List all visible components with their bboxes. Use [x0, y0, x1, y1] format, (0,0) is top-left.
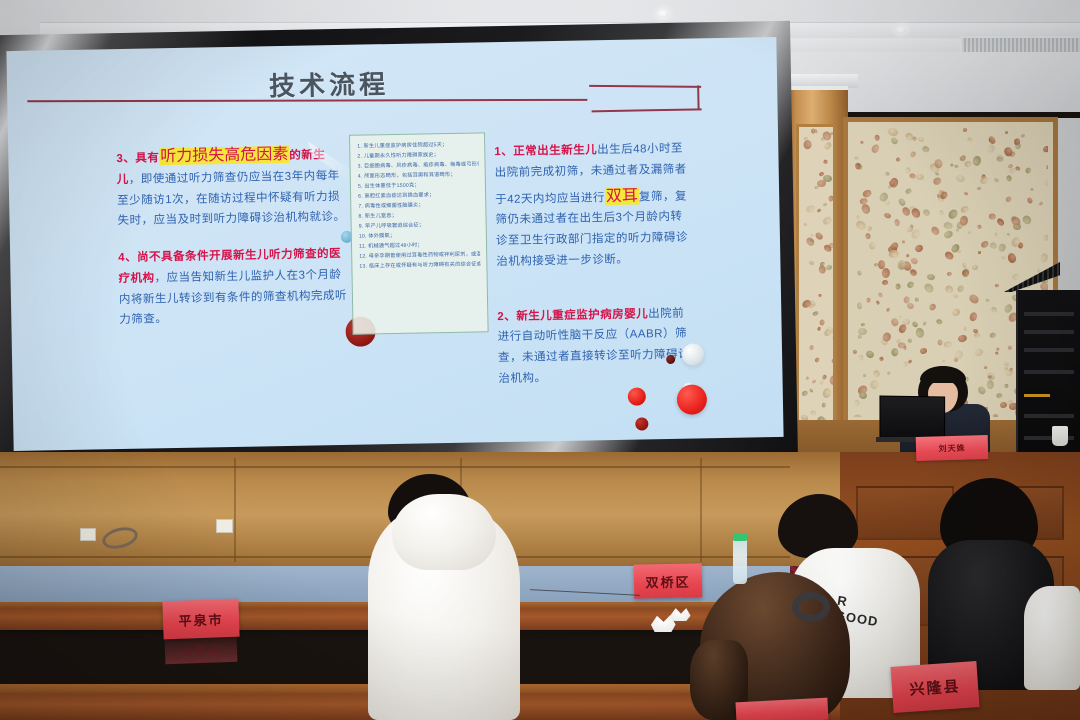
- floral-motif: [1005, 175, 1011, 182]
- floral-motif: [1030, 187, 1034, 191]
- floral-motif: [989, 214, 996, 220]
- floral-motif: [1050, 145, 1053, 157]
- floral-motif: [944, 341, 953, 349]
- floral-motif: [885, 171, 891, 177]
- paragraph-3-highlight: 听力损失高危因素: [159, 146, 289, 165]
- floral-motif: [1038, 201, 1043, 206]
- floral-motif: [805, 203, 816, 213]
- floral-motif: [983, 366, 987, 370]
- floral-motif: [865, 349, 876, 359]
- floral-motif: [895, 283, 901, 290]
- placard-shuangqiao: 双桥区: [634, 563, 703, 598]
- floral-motif: [922, 208, 931, 217]
- floral-motif: [1043, 179, 1052, 188]
- slide-paragraph-2: 2、新生儿重症监护病房婴儿出院前进行自动听性脑干反应（AABR）筛查，未通过者直…: [497, 303, 690, 390]
- floral-motif: [1006, 233, 1009, 236]
- column-floral-inset: [796, 124, 836, 424]
- floral-motif: [976, 224, 981, 229]
- floral-motif: [882, 268, 891, 279]
- floral-motif: [887, 126, 899, 137]
- floral-motif: [866, 297, 871, 303]
- floral-motif: [963, 128, 968, 132]
- floral-motif: [952, 294, 958, 299]
- floral-motif: [917, 136, 925, 143]
- floral-motif: [907, 302, 916, 310]
- floral-motif: [897, 197, 906, 207]
- floral-motif: [968, 311, 978, 322]
- floral-motif: [910, 256, 919, 264]
- floral-motif: [859, 354, 864, 360]
- floral-motif: [874, 134, 880, 141]
- equipment-rack: [1016, 290, 1080, 470]
- floral-motif: [1021, 134, 1026, 139]
- floral-motif: [973, 155, 982, 166]
- floral-motif: [861, 188, 872, 198]
- floral-motif: [1027, 197, 1034, 204]
- floral-motif: [993, 177, 999, 183]
- floral-motif: [973, 332, 980, 338]
- floral-motif: [922, 282, 935, 295]
- floral-motif: [943, 229, 954, 240]
- floral-motif: [878, 260, 885, 269]
- floral-motif: [1021, 214, 1033, 226]
- floral-motif: [916, 298, 920, 302]
- floral-motif: [828, 374, 836, 386]
- floral-motif: [801, 390, 808, 397]
- floral-motif: [887, 371, 892, 375]
- floral-motif: [974, 347, 984, 357]
- panel-seam: [700, 458, 702, 562]
- floral-motif: [905, 253, 909, 257]
- floral-motif: [819, 319, 825, 326]
- floral-motif: [960, 204, 970, 213]
- floral-motif: [996, 392, 1003, 398]
- floral-motif: [806, 376, 810, 380]
- floral-motif: [899, 315, 903, 318]
- floral-motif: [987, 143, 996, 153]
- floral-motif: [804, 222, 807, 226]
- floral-motif: [1043, 234, 1050, 241]
- floral-motif: [828, 195, 835, 202]
- floral-motif: [825, 264, 832, 270]
- floral-motif: [822, 374, 828, 381]
- floral-motif: [941, 360, 945, 363]
- floral-motif: [906, 280, 915, 289]
- floral-motif: [906, 167, 911, 173]
- laptop[interactable]: [879, 396, 945, 439]
- floral-motif: [817, 208, 822, 213]
- floral-motif: [919, 348, 927, 355]
- floral-motif: [926, 273, 934, 280]
- floral-motif: [930, 225, 941, 237]
- floral-motif: [911, 320, 919, 328]
- red-circle-small-decor: [635, 417, 648, 430]
- floral-motif: [944, 285, 954, 295]
- placard-partial-front: [735, 698, 828, 720]
- floral-motif: [817, 326, 822, 331]
- paragraph-2-number: 2、: [497, 310, 516, 322]
- paragraph-3-head-a: 具有: [135, 152, 159, 164]
- floral-motif: [989, 332, 996, 338]
- projection-screen[interactable]: 技术流程 3、具有听力损失高危因素的新生儿，即使通过听力筛查仍应当在3年内每年至…: [6, 37, 783, 451]
- floral-motif: [910, 173, 916, 178]
- floral-motif: [950, 163, 954, 167]
- power-outlet-icon: [216, 519, 233, 533]
- floral-motif: [832, 318, 836, 328]
- floral-motif: [860, 322, 865, 326]
- floral-motif: [882, 280, 889, 286]
- floral-motif: [1024, 166, 1032, 174]
- risk-factor-list-box: 1. 新生儿重症监护病房住院超过5天；2. 儿童期永久性听力障碍家族史；3. 巨…: [349, 132, 489, 334]
- floral-motif: [980, 239, 990, 248]
- floral-motif: [977, 187, 981, 191]
- floral-motif: [905, 188, 912, 194]
- floral-motif: [908, 359, 913, 364]
- floral-motif: [857, 270, 863, 276]
- floral-motif: [855, 157, 859, 161]
- floral-motif: [822, 202, 827, 207]
- floral-motif: [963, 326, 967, 331]
- floral-motif: [873, 369, 881, 378]
- floral-motif: [1011, 273, 1020, 281]
- floral-motif: [860, 203, 871, 215]
- floral-motif: [943, 222, 953, 231]
- floral-motif: [810, 409, 818, 416]
- floral-motif: [858, 334, 862, 339]
- floral-motif: [990, 306, 998, 314]
- floral-motif: [936, 318, 944, 325]
- floral-motif: [967, 136, 973, 142]
- floral-motif: [1048, 186, 1053, 192]
- floral-motif: [921, 145, 930, 154]
- floral-motif: [879, 356, 884, 361]
- floral-motif: [878, 292, 884, 298]
- floral-motif: [937, 340, 943, 347]
- floral-motif: [1008, 345, 1013, 351]
- placard-pingquan-reflection: 平泉市: [165, 636, 238, 664]
- floral-motif: [1007, 252, 1017, 264]
- floral-motif: [865, 233, 871, 240]
- floral-motif: [828, 242, 836, 249]
- floral-motif: [821, 402, 826, 408]
- floral-motif: [811, 379, 816, 384]
- floral-motif: [821, 215, 832, 226]
- paragraph-3-body: ，即使通过听力筛查仍应当在3年内每年至少随访1次，在随访过程中怀疑有听力损失时，…: [117, 170, 346, 228]
- floral-motif: [832, 395, 836, 402]
- floral-motif: [808, 260, 814, 266]
- floral-motif: [814, 357, 820, 363]
- floral-motif: [964, 191, 969, 196]
- floral-motif: [822, 160, 828, 165]
- panel-line: [0, 466, 790, 468]
- slide-paragraph-4: 4、尚不具备条件开展新生儿听力筛查的医疗机构，应当告知新生儿监护人在3个月龄内将…: [118, 244, 349, 331]
- floral-motif: [992, 413, 998, 418]
- slide-paragraph-1: 1、正常出生新生儿出生后48小时至出院前完成初筛，未通过者及漏筛者于42天内均应…: [494, 139, 688, 273]
- floral-motif: [903, 362, 907, 367]
- paragraph-1-number: 1、: [494, 146, 513, 158]
- paragraph-2-head: 新生儿重症监护病房婴儿: [516, 308, 648, 322]
- floral-motif: [854, 399, 860, 406]
- floral-motif: [959, 156, 963, 161]
- title-accent-line: [589, 85, 701, 88]
- floral-motif: [916, 174, 924, 180]
- floral-motif: [810, 234, 813, 238]
- floral-motif: [955, 165, 959, 168]
- title-accent-vertical: [697, 85, 699, 109]
- floral-motif: [1004, 131, 1007, 134]
- gray-sphere-large-decor: [682, 343, 704, 365]
- floral-motif: [805, 236, 816, 247]
- floral-motif: [1037, 269, 1041, 273]
- floral-motif: [1005, 383, 1009, 387]
- floral-motif: [915, 327, 924, 338]
- floral-motif: [823, 141, 833, 151]
- floral-motif: [977, 386, 987, 396]
- conference-room-scene: 技术流程 3、具有听力损失高危因素的新生儿，即使通过听力筛查仍应当在3年内每年至…: [0, 0, 1080, 720]
- floral-motif: [895, 157, 901, 163]
- floral-motif: [908, 338, 913, 343]
- floral-motif: [859, 140, 863, 144]
- floral-motif: [869, 242, 875, 249]
- floral-motif: [955, 173, 966, 183]
- floral-motif: [995, 217, 1005, 227]
- downlight-icon: [658, 10, 668, 17]
- floral-motif: [870, 380, 879, 391]
- floral-motif: [989, 242, 998, 250]
- person-hood: [392, 494, 496, 570]
- floral-motif: [909, 268, 918, 277]
- floral-motif: [953, 357, 959, 362]
- floral-motif: [947, 272, 952, 276]
- floral-motif: [876, 301, 880, 306]
- floral-motif: [914, 244, 924, 254]
- floral-motif: [1048, 165, 1053, 171]
- risk-factor-item: 13. 临床上存在或怀疑有与听力障碍有关的综合征或遗传病。: [359, 260, 480, 272]
- paragraph-1-head: 正常出生新生儿: [513, 144, 597, 158]
- floral-motif: [832, 357, 836, 363]
- placard-speaker-name: 刘天姝: [916, 435, 989, 461]
- paragraph-4-number: 4、: [118, 252, 137, 264]
- floral-motif: [910, 207, 922, 220]
- floral-motif: [856, 302, 862, 309]
- floral-motif: [819, 380, 824, 385]
- floral-motif: [817, 293, 821, 297]
- floral-motif: [902, 240, 905, 243]
- floral-motif: [874, 262, 879, 266]
- floral-motif: [951, 308, 961, 318]
- title-accent-line-2: [592, 108, 702, 112]
- floral-motif: [1040, 253, 1049, 263]
- placard-xinglong: 兴隆县: [891, 661, 980, 713]
- floral-motif: [804, 141, 812, 151]
- panel-seam: [234, 458, 236, 562]
- floral-motif: [923, 321, 927, 326]
- floral-motif: [932, 176, 943, 186]
- floral-motif: [928, 302, 937, 311]
- floral-motif: [809, 345, 814, 350]
- floral-motif: [995, 284, 999, 287]
- floral-motif: [886, 307, 891, 312]
- floral-motif: [957, 334, 968, 344]
- water-bottle: [733, 538, 747, 584]
- red-circle-large-decor: [677, 384, 708, 415]
- floral-motif: [894, 219, 901, 227]
- floral-motif: [939, 210, 944, 216]
- person-shoulder-light: [1024, 586, 1080, 690]
- paragraph-3-number: 3、: [116, 153, 135, 165]
- slide-right-column: 1、正常出生新生儿出生后48小时至出院前完成初筛，未通过者及漏筛者于42天内均应…: [494, 139, 691, 406]
- floral-motif: [863, 374, 867, 377]
- power-outlet-icon: [80, 528, 96, 541]
- paper-cup: [1052, 426, 1068, 446]
- floral-motif: [947, 207, 960, 220]
- floral-motif: [853, 349, 859, 355]
- floral-motif: [968, 231, 972, 235]
- floral-motif: [1042, 145, 1051, 154]
- floral-motif: [962, 262, 966, 267]
- placard-pingquan: 平泉市: [162, 599, 239, 640]
- floral-motif: [997, 242, 1007, 252]
- floral-motif: [956, 284, 965, 293]
- floral-motif: [814, 232, 824, 242]
- downlight-icon: [896, 26, 906, 33]
- floral-motif: [890, 137, 899, 146]
- floral-motif: [1014, 143, 1021, 150]
- floral-motif: [890, 318, 899, 328]
- floral-motif: [812, 312, 817, 316]
- floral-motif: [831, 332, 836, 344]
- floral-motif: [892, 348, 899, 357]
- floral-motif: [964, 159, 973, 168]
- floral-motif: [959, 216, 969, 227]
- floral-motif: [986, 299, 990, 302]
- floral-motif: [822, 388, 832, 400]
- floral-motif: [994, 352, 998, 356]
- floral-motif: [978, 251, 981, 254]
- floral-motif: [909, 151, 916, 158]
- floral-motif: [972, 265, 978, 270]
- floral-motif: [867, 226, 873, 232]
- floral-motif: [855, 219, 868, 231]
- floral-motif: [968, 293, 981, 306]
- floral-motif: [994, 233, 998, 237]
- floral-motif: [832, 223, 836, 229]
- hair-clip-icon: [792, 592, 830, 622]
- floral-motif: [987, 380, 994, 389]
- dark-red-dot-decor: [666, 355, 675, 364]
- floral-motif: [883, 212, 891, 219]
- bottle-cap: [733, 533, 747, 541]
- floral-motif: [817, 264, 825, 274]
- projection-screen-frame: 技术流程 3、具有听力损失高危因素的新生儿，即使通过听力筛查仍应当在3年内每年至…: [0, 21, 798, 468]
- slide-left-column: 3、具有听力损失高危因素的新生儿，即使通过听力筛查仍应当在3年内每年至少随访1次…: [116, 139, 350, 347]
- floral-motif: [811, 128, 815, 133]
- slide-title: 技术流程: [269, 64, 390, 103]
- paragraph-1-emphasis: 双耳: [605, 187, 639, 205]
- floral-motif: [809, 388, 814, 393]
- floral-motif: [834, 287, 836, 296]
- floral-motif: [888, 250, 898, 259]
- floral-motif: [871, 143, 881, 154]
- floral-motif: [979, 175, 989, 186]
- floral-motif: [1005, 196, 1012, 203]
- floral-motif: [1001, 256, 1006, 260]
